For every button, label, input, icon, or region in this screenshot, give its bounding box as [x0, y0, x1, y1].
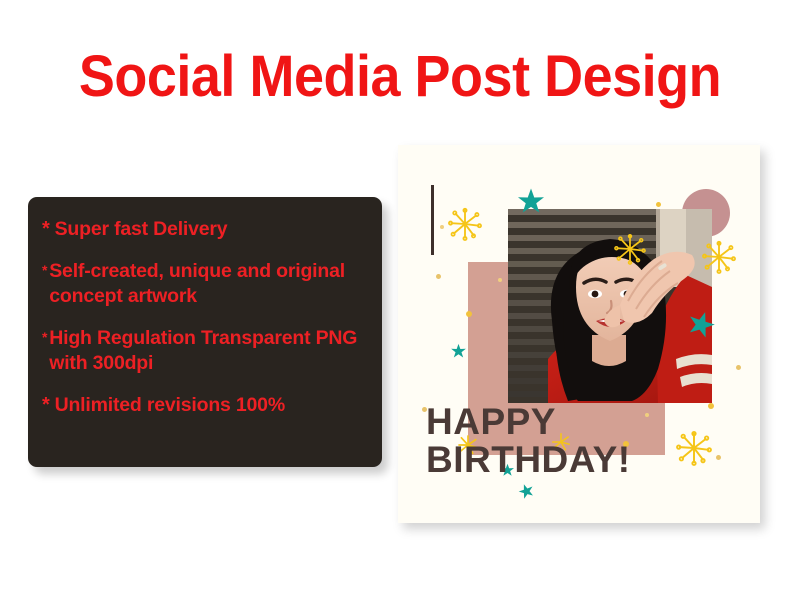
gold-sparkle-icon	[702, 240, 736, 274]
gold-dot-icon	[736, 365, 741, 370]
post-preview-card: HAPPY BIRTHDAY!	[398, 145, 760, 523]
teal-star-icon	[516, 187, 546, 217]
gold-sparkle-icon	[448, 207, 482, 241]
list-item: * Unlimited revisions 100%	[42, 393, 368, 418]
bullet-icon: *	[42, 217, 50, 241]
list-item-label: High Regulation Transparent PNG with 300…	[49, 326, 368, 376]
bullet-icon: *	[42, 259, 47, 281]
accent-line	[431, 185, 434, 255]
gold-dot-icon	[498, 278, 502, 282]
list-item-label: Self-created, unique and original concep…	[49, 259, 368, 309]
gold-dot-icon	[645, 413, 649, 417]
gold-dot-icon	[440, 225, 444, 229]
post-photo	[508, 209, 712, 403]
teal-star-icon	[686, 310, 716, 340]
features-panel: * Super fast Delivery * Self-created, un…	[28, 197, 382, 467]
bullet-icon: *	[42, 326, 47, 348]
greeting-text: HAPPY BIRTHDAY!	[426, 403, 631, 479]
gold-dot-icon	[656, 202, 661, 207]
bullet-icon: *	[42, 393, 50, 417]
gold-dot-icon	[708, 403, 714, 409]
teal-star-icon	[518, 483, 535, 500]
poster-canvas: Social Media Post Design * Super fast De…	[0, 0, 800, 600]
gold-dot-icon	[716, 455, 721, 460]
teal-star-icon	[450, 343, 467, 360]
gold-dot-icon	[436, 274, 441, 279]
list-item: * Self-created, unique and original conc…	[42, 259, 368, 309]
gold-sparkle-icon	[676, 430, 712, 466]
list-item-label: Super fast Delivery	[55, 217, 368, 242]
list-item: * Super fast Delivery	[42, 217, 368, 242]
gold-sparkle-icon	[614, 233, 646, 265]
list-item: * High Regulation Transparent PNG with 3…	[42, 326, 368, 376]
gold-dot-icon	[466, 311, 472, 317]
list-item-label: Unlimited revisions 100%	[55, 393, 368, 418]
page-title: Social Media Post Design	[28, 44, 772, 110]
